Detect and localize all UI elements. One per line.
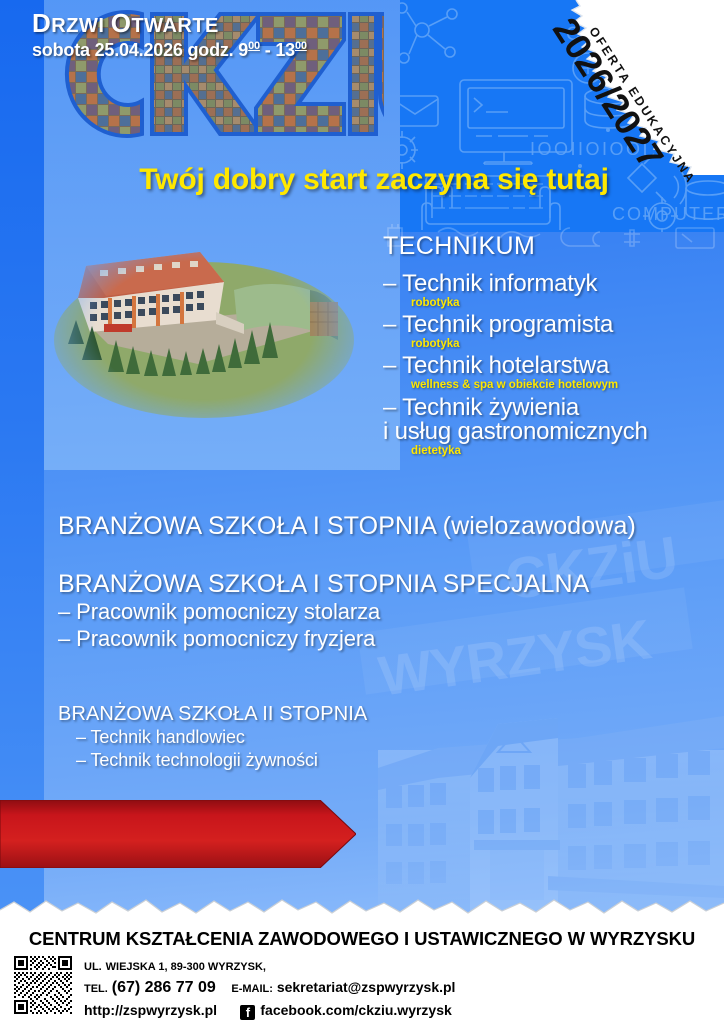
footer: CENTRUM KSZTAŁCENIA ZAWODOWEGO I USTAWIC… xyxy=(0,920,724,1024)
open-day-title2-rest: TWARTE xyxy=(131,15,218,37)
technikum-item-name: – Technik informatyk xyxy=(383,272,724,297)
facebook-icon[interactable]: f xyxy=(240,1005,255,1020)
technikum-item: – Technik żywienia i usług gastronomiczn… xyxy=(383,396,724,459)
open-day-time-mid: - 13 xyxy=(260,40,295,60)
branzowa2-item: – Technik handlowiec xyxy=(58,726,367,749)
tel-label: TEL. xyxy=(84,983,108,995)
footer-phone-email-line: TEL. (67) 286 77 09 E-MAIL: sekretariat@… xyxy=(84,976,455,1000)
technikum-item-sub: robotyka xyxy=(383,338,724,351)
address-label: UL. xyxy=(84,961,102,973)
technikum-item: – Technik hotelarstwa wellness & spa w o… xyxy=(383,354,724,392)
branzowa2-heading: BRANŻOWA SZKOŁA II STOPNIA xyxy=(58,703,367,726)
email-value[interactable]: sekretariat@zspwyrzysk.pl xyxy=(277,979,456,995)
address-value: WIEJSKA 1, 89-300 WYRZYSK, xyxy=(106,961,266,973)
branzowa2-item: – Technik technologii żywności xyxy=(58,749,367,772)
open-day-details: sobota 25.04.2026 godz. 900 - 1300 xyxy=(32,40,307,61)
technikum-item-name: – Technik żywienia xyxy=(383,396,724,421)
technikum-section: TECHNIKUM – Technik informatyk robotyka … xyxy=(383,232,724,462)
technikum-item: – Technik informatyk robotyka xyxy=(383,272,724,310)
open-day-date: sobota 25.04.2026 godz. 9 xyxy=(32,40,248,60)
open-day-time-sup1: 00 xyxy=(248,40,260,52)
torn-paper-corner xyxy=(494,0,724,175)
open-day-title-cap: D xyxy=(32,8,51,38)
education-offer-poster: CODE IOOIIOIOOI COMPUTER xyxy=(0,0,724,1024)
technikum-item-name: – Technik hotelarstwa xyxy=(383,354,724,379)
school-aerial-photo xyxy=(48,240,360,440)
qr-code[interactable] xyxy=(14,956,72,1014)
branzowa-specjalna-item: – Pracownik pomocniczy fryzjera xyxy=(58,626,589,653)
open-day-title2-cap: O xyxy=(111,8,132,38)
open-day-title-rest: RZWI xyxy=(51,15,104,37)
technikum-heading: TECHNIKUM xyxy=(383,232,724,261)
website-value[interactable]: http://zspwyrzysk.pl xyxy=(84,1002,217,1018)
open-day-text: DRZWI OTWARTE sobota 25.04.2026 godz. 90… xyxy=(32,8,307,61)
footer-institution-title: CENTRUM KSZTAŁCENIA ZAWODOWEGO I USTAWIC… xyxy=(0,928,724,950)
technikum-item-sub: dietetyka xyxy=(383,445,724,458)
branzowa-specjalna-section: BRANŻOWA SZKOŁA I STOPNIA SPECJALNA – Pr… xyxy=(58,570,589,653)
branzowa-specjalna-item: – Pracownik pomocniczy stolarza xyxy=(58,599,589,626)
technikum-item-name: – Technik programista xyxy=(383,313,724,338)
branzowa1-section: BRANŻOWA SZKOŁA I STOPNIA (wielozawodowa… xyxy=(58,512,636,541)
branzowa1-heading: BRANŻOWA SZKOŁA I STOPNIA (wielozawodowa… xyxy=(58,512,636,541)
technikum-item-sub: wellness & spa w obiekcie hotelowym xyxy=(383,379,724,392)
tel-value[interactable]: (67) 286 77 09 xyxy=(112,979,216,996)
technikum-item-name-line2: i usług gastronomicznych xyxy=(383,420,724,445)
footer-web-social-line: http://zspwyrzysk.pl ffacebook.com/ckziu… xyxy=(84,1000,455,1021)
poster-tagline: Twój dobry start zaczyna się tutaj xyxy=(44,163,704,197)
left-edge-rail xyxy=(0,0,44,912)
email-label: E-MAIL: xyxy=(231,983,273,995)
open-day-title: DRZWI OTWARTE xyxy=(32,8,307,39)
technikum-item: – Technik programista robotyka xyxy=(383,313,724,351)
technikum-item-sub: robotyka xyxy=(383,297,724,310)
school-building-watermark xyxy=(378,690,724,912)
footer-address-line: UL. WIEJSKA 1, 89-300 WYRZYSK, xyxy=(84,955,455,976)
facebook-value[interactable]: facebook.com/ckziu.wyrzysk xyxy=(260,1002,451,1018)
open-day-time-sup2: 00 xyxy=(295,40,307,52)
open-day-ribbon xyxy=(0,800,356,868)
branzowa2-section: BRANŻOWA SZKOŁA II STOPNIA – Technik han… xyxy=(58,703,367,772)
footer-contact-block: UL. WIEJSKA 1, 89-300 WYRZYSK, TEL. (67)… xyxy=(84,955,455,1021)
branzowa-specjalna-heading: BRANŻOWA SZKOŁA I STOPNIA SPECJALNA xyxy=(58,570,589,599)
